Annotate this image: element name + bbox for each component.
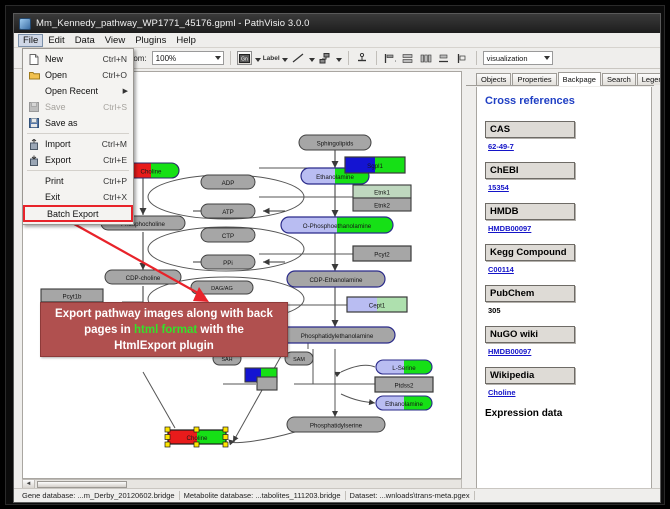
file-menu-accel-export: Ctrl+E [103, 155, 133, 165]
xref-db-chebi: ChEBI [485, 162, 575, 179]
svg-text:Cept1: Cept1 [369, 303, 386, 310]
file-menu-item-import[interactable]: Import Ctrl+M [23, 136, 133, 152]
node-sphingolipids: Sphingolipids [299, 135, 371, 150]
menu-file[interactable]: File [18, 34, 43, 47]
file-menu-accel-print: Ctrl+P [103, 176, 133, 186]
import-icon [23, 139, 45, 150]
gene-product-dropdown-icon[interactable] [255, 58, 261, 62]
xref-link-hmdb[interactable]: HMDB00097 [488, 224, 531, 233]
file-menu-item-new[interactable]: New Ctrl+N [23, 51, 133, 67]
node-sam: SAM [285, 352, 313, 365]
gene-product-tool-icon[interactable]: Gn [237, 51, 252, 65]
node-pcyt1b: Pcyt1b [41, 289, 103, 302]
anchor-tool-icon[interactable] [355, 51, 370, 65]
stack-tool-icon[interactable] [437, 51, 452, 65]
svg-text:ATP: ATP [222, 209, 234, 216]
svg-text:O-Phosphoethanolamine: O-Phosphoethanolamine [303, 223, 372, 230]
node-pcyt2: Pcyt2 [353, 246, 411, 261]
annotation-callout: Export pathway images along with back pa… [40, 302, 288, 357]
callout-line-2-b: with the [197, 324, 244, 336]
tab-properties[interactable]: Properties [512, 73, 556, 85]
menu-bar: File Edit Data View Plugins Help [14, 33, 660, 48]
node-dag-dag: DAG/AG [191, 281, 253, 294]
xref-value-pubchem: 305 [488, 306, 643, 315]
xref-value-cas[interactable]: 62-49-7 [488, 142, 643, 151]
group-tool-icon[interactable] [455, 51, 470, 65]
svg-text:Sphingolipids: Sphingolipids [317, 141, 354, 148]
svg-text:Ptdss2: Ptdss2 [395, 383, 414, 390]
tab-objects[interactable]: Objects [476, 73, 511, 85]
file-menu-dropdown: New Ctrl+N Open Ctrl+O Open Recent ▶ Sav… [22, 48, 134, 225]
chevron-down-icon [215, 56, 221, 60]
svg-text:Pcyt1b: Pcyt1b [63, 294, 82, 301]
file-menu-item-export[interactable]: Export Ctrl+E [23, 152, 133, 168]
callout-line-2: pages in html format with the [84, 322, 244, 338]
window-title: Mm_Kennedy_pathway_WP1771_45176.gpml - P… [36, 18, 310, 29]
status-bar: Gene database: ...m_Derby_20120602.bridg… [14, 488, 660, 502]
svg-text:DAG/AG: DAG/AG [211, 286, 233, 292]
file-menu-item-open-recent[interactable]: Open Recent ▶ [23, 83, 133, 99]
line-dropdown-icon[interactable] [309, 58, 315, 62]
toolbar-separator-4 [476, 51, 477, 65]
status-metabolite-database: Metabolite database: ...tabolites_111203… [180, 491, 346, 500]
node-choline-selected: Choline [165, 427, 228, 447]
xref-value-chebi[interactable]: 15354 [488, 183, 643, 192]
pathvisio-app-icon [19, 18, 31, 30]
zoom-value: 100% [156, 54, 176, 63]
xref-db-cas: CAS [485, 121, 575, 138]
backpage-content: Cross references CAS 62-49-7 ChEBI 15354… [476, 87, 652, 490]
file-menu-label-save: Save [45, 102, 103, 112]
submenu-chevron-icon: ▶ [123, 87, 128, 95]
menu-edit[interactable]: Edit [43, 34, 69, 47]
expression-data-heading: Expression data [485, 408, 643, 419]
file-menu-separator-2 [27, 170, 129, 171]
svg-text:SAM: SAM [293, 357, 305, 363]
toolbar-separator-3 [376, 51, 377, 65]
title-bar: Mm_Kennedy_pathway_WP1771_45176.gpml - P… [14, 14, 660, 33]
new-document-icon [23, 54, 45, 65]
align-center-tool-icon[interactable] [401, 51, 416, 65]
svg-text:CTP: CTP [222, 233, 234, 240]
callout-highlight: html format [134, 324, 197, 336]
chevron-down-icon-2 [544, 56, 550, 60]
file-menu-item-open[interactable]: Open Ctrl+O [23, 67, 133, 83]
svg-text:L-Serine: L-Serine [392, 365, 416, 372]
save-disk-icon [23, 102, 45, 112]
svg-text:CDP-Ethanolamine: CDP-Ethanolamine [310, 277, 364, 284]
svg-text:o: o [395, 58, 396, 63]
xref-link-nugo[interactable]: HMDB00097 [488, 347, 531, 356]
file-menu-accel-new: Ctrl+N [103, 54, 133, 64]
distribute-tool-icon[interactable] [419, 51, 434, 65]
xref-db-pubchem: PubChem [485, 285, 575, 302]
node-cdp-choline: CDP-choline [105, 270, 181, 284]
node-pemt-handle [257, 377, 277, 390]
interaction-tool-icon[interactable] [318, 51, 333, 65]
right-side-panel: Objects Properties Backpage Search Legen… [466, 71, 654, 490]
node-cdp-ethanolamine: CDP-Ethanolamine [287, 271, 385, 287]
file-menu-accel-import: Ctrl+M [102, 139, 133, 149]
node-atp: ATP [201, 204, 255, 218]
svg-text:Pcyt2: Pcyt2 [374, 252, 390, 259]
file-menu-label-save-as: Save as [45, 118, 127, 128]
node-ctp: CTP [201, 228, 255, 242]
file-menu-label-print: Print [45, 176, 103, 186]
xref-value-nugo[interactable]: HMDB00097 [488, 347, 643, 356]
xref-link-cas[interactable]: 62-49-7 [488, 142, 514, 151]
screenshot-root: Mm_Kennedy_pathway_WP1771_45176.gpml - P… [0, 0, 670, 509]
file-menu-item-save: Save Ctrl+S [23, 99, 133, 115]
visualization-value: visualization [487, 54, 528, 63]
svg-text:Choline: Choline [187, 435, 209, 442]
svg-text:CDP-choline: CDP-choline [126, 275, 161, 282]
open-folder-icon [23, 71, 45, 80]
status-gene-database: Gene database: ...m_Derby_20120602.bridg… [18, 491, 180, 500]
file-menu-item-batch-export[interactable]: Batch Export [23, 205, 133, 222]
tab-search[interactable]: Search [602, 73, 636, 85]
visualization-combo[interactable]: visualization [483, 51, 553, 65]
tab-legend[interactable]: Legend [637, 73, 661, 85]
file-menu-item-print[interactable]: Print Ctrl+P [23, 173, 133, 189]
xref-link-kegg[interactable]: C00114 [488, 265, 514, 274]
svg-text:PPi: PPi [223, 260, 233, 267]
node-l-serine: L-Serine [376, 360, 432, 374]
node-phosphatidylserine: Phosphatidylserine [287, 417, 385, 432]
svg-text:Ethanolamine: Ethanolamine [316, 174, 354, 181]
file-menu-label-export: Export [45, 155, 103, 165]
label-tool-icon[interactable]: Label [264, 51, 279, 65]
file-menu-accel-save: Ctrl+S [103, 102, 133, 112]
cross-references-heading: Cross references [485, 95, 643, 107]
menu-data[interactable]: Data [70, 34, 100, 47]
xref-db-wikipedia: Wikipedia [485, 367, 575, 384]
toolbar-separator-2 [348, 51, 349, 65]
side-panel-tabs: Objects Properties Backpage Search Legen… [466, 71, 654, 86]
file-menu-label-new: New [45, 54, 103, 64]
callout-line-2-a: pages in [84, 324, 134, 336]
svg-text:Phosphatidylethanolamine: Phosphatidylethanolamine [301, 333, 374, 340]
svg-text:Gn: Gn [241, 56, 248, 62]
export-icon [23, 155, 45, 166]
file-menu-label-exit: Exit [45, 192, 103, 202]
xref-link-chebi[interactable]: 15354 [488, 183, 509, 192]
tab-backpage[interactable]: Backpage [558, 72, 601, 86]
file-menu-label-open: Open [45, 70, 102, 80]
status-dataset: Dataset: ...wnloads\trans-meta.pgex [346, 491, 475, 500]
xref-db-hmdb: HMDB [485, 203, 575, 220]
file-menu-accel-exit: Ctrl+X [103, 192, 133, 202]
callout-line-1: Export pathway images along with back [55, 306, 273, 322]
file-menu-item-exit[interactable]: Exit Ctrl+X [23, 189, 133, 205]
menu-help[interactable]: Help [171, 34, 201, 47]
svg-text:Ethanolamine: Ethanolamine [385, 401, 423, 408]
menu-view[interactable]: View [100, 34, 130, 47]
node-cept1: Cept1 [347, 297, 407, 312]
align-left-tool-icon[interactable]: o [383, 51, 398, 65]
node-sgpl1: Sgpl1 [345, 157, 405, 173]
node-ppi: PPi [201, 255, 255, 269]
outer-frame: Mm_Kennedy_pathway_WP1771_45176.gpml - P… [5, 5, 665, 505]
xref-value-kegg[interactable]: C00114 [488, 265, 643, 274]
xref-link-wikipedia[interactable]: Choline [488, 388, 516, 397]
svg-text:Phosphatidylserine: Phosphatidylserine [310, 423, 363, 430]
file-menu-accel-open: Ctrl+O [102, 70, 133, 80]
svg-text:Choline: Choline [141, 169, 163, 176]
node-adp: ADP [201, 175, 255, 189]
toolbar-separator [230, 51, 231, 65]
xref-value-wikipedia[interactable]: Choline [488, 388, 643, 397]
xref-value-hmdb[interactable]: HMDB00097 [488, 224, 643, 233]
scrollbar-thumb[interactable] [37, 481, 127, 488]
callout-line-3: HtmlExport plugin [114, 338, 214, 354]
interaction-dropdown-icon[interactable] [336, 58, 342, 62]
pathvisio-window: Mm_Kennedy_pathway_WP1771_45176.gpml - P… [13, 13, 661, 503]
file-menu-label-import: Import [45, 139, 102, 149]
label-dropdown-icon[interactable] [282, 58, 288, 62]
svg-text:Etnk2: Etnk2 [374, 203, 390, 210]
node-etnk2: Etnk2 [353, 198, 411, 211]
file-menu-separator-1 [27, 133, 129, 134]
node-etnk1: Etnk1 [353, 185, 411, 198]
file-menu-item-save-as[interactable]: Save as [23, 115, 133, 131]
svg-text:Sgpl1: Sgpl1 [367, 163, 383, 170]
menu-plugins[interactable]: Plugins [130, 34, 171, 47]
xref-db-kegg: Kegg Compound [485, 244, 575, 261]
svg-text:Etnk1: Etnk1 [374, 190, 390, 197]
node-o-phosphoethanolamine: O-Phosphoethanolamine [281, 217, 393, 233]
svg-text:ADP: ADP [222, 180, 235, 187]
save-as-icon [23, 118, 45, 128]
svg-text:SAH: SAH [221, 357, 232, 363]
xref-db-nugo: NuGO wiki [485, 326, 575, 343]
line-tool-icon[interactable] [291, 51, 306, 65]
file-menu-label-open-recent: Open Recent [45, 86, 133, 96]
node-ethanolamine-bottom: Ethanolamine [376, 396, 432, 410]
zoom-combo[interactable]: 100% [152, 51, 224, 65]
node-ptdss2: Ptdss2 [375, 377, 433, 392]
node-phosphatidylethanolamine: Phosphatidylethanolamine [279, 327, 395, 343]
file-menu-label-batch-export: Batch Export [47, 209, 131, 219]
